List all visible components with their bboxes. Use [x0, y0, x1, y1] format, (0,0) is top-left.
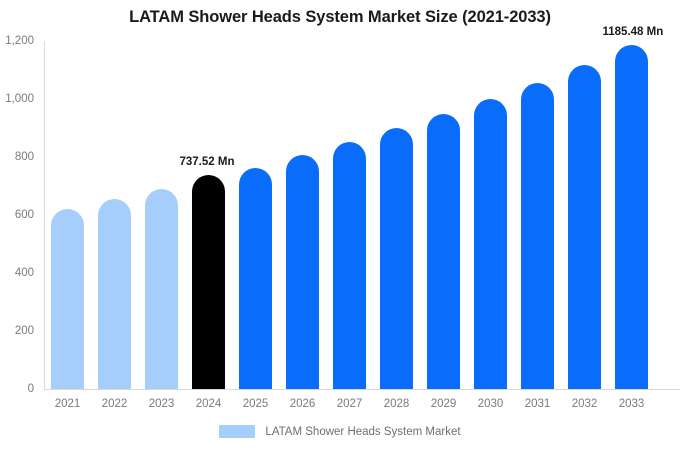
bar-2029[interactable] — [427, 114, 460, 389]
bar-2030[interactable] — [474, 99, 507, 389]
bar-2027[interactable] — [333, 142, 366, 389]
bar-2033[interactable] — [615, 45, 648, 389]
x-axis-tick-label: 2032 — [561, 398, 608, 410]
bar-2028[interactable] — [380, 128, 413, 389]
bar-2023[interactable] — [145, 189, 178, 389]
y-axis-tick-label: 600 — [0, 209, 34, 221]
chart-container: LATAM Shower Heads System Market Size (2… — [0, 0, 680, 450]
x-axis-tick-label: 2033 — [608, 398, 655, 410]
y-axis-tick-label: 800 — [0, 151, 34, 163]
x-axis-tick-label: 2031 — [514, 398, 561, 410]
data-label-2033: 1185.48 Mn — [603, 26, 664, 38]
y-axis-tick-label: 1,200 — [0, 35, 34, 47]
bar-2025[interactable] — [239, 168, 272, 389]
plot-area — [44, 41, 680, 389]
x-axis-tick-label: 2030 — [467, 398, 514, 410]
legend-label: LATAM Shower Heads System Market — [265, 426, 460, 438]
bar-2026[interactable] — [286, 155, 319, 389]
x-axis-tick-label: 2022 — [91, 398, 138, 410]
x-axis-line — [44, 389, 680, 390]
bar-2022[interactable] — [98, 199, 131, 389]
bar-2031[interactable] — [521, 83, 554, 389]
x-axis-tick-label: 2021 — [44, 398, 91, 410]
bar-2032[interactable] — [568, 65, 601, 389]
x-axis-tick-label: 2026 — [279, 398, 326, 410]
bar-2021[interactable] — [51, 209, 84, 389]
data-label-2024: 737.52 Mn — [180, 156, 235, 168]
x-axis-tick-label: 2028 — [373, 398, 420, 410]
chart-title: LATAM Shower Heads System Market Size (2… — [0, 8, 680, 27]
x-axis-tick-label: 2029 — [420, 398, 467, 410]
x-axis-tick-label: 2025 — [232, 398, 279, 410]
y-axis-tick-label: 400 — [0, 267, 34, 279]
y-axis-tick-label: 1,000 — [0, 93, 34, 105]
legend-color-swatch — [219, 425, 255, 438]
x-axis-tick-label: 2024 — [185, 398, 232, 410]
y-axis-tick-label: 200 — [0, 325, 34, 337]
bar-2024[interactable] — [192, 175, 225, 389]
x-axis-tick-label: 2027 — [326, 398, 373, 410]
x-axis-tick-label: 2023 — [138, 398, 185, 410]
y-axis-tick-label: 0 — [0, 383, 34, 395]
chart-legend[interactable]: LATAM Shower Heads System Market — [0, 425, 680, 438]
